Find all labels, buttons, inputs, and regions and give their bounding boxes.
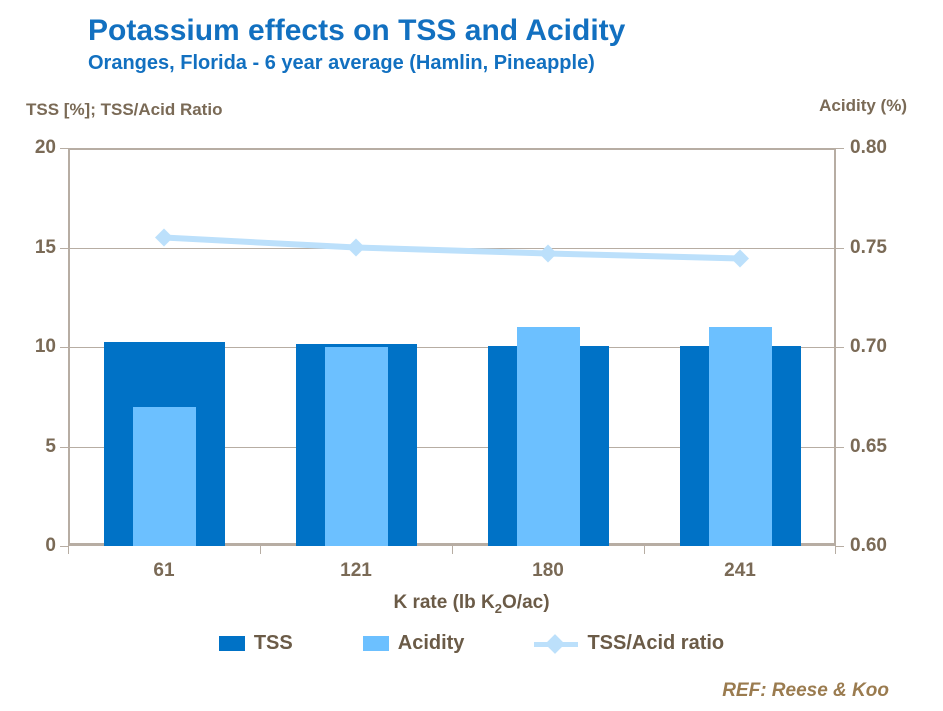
plot-area: [68, 148, 836, 546]
legend-swatch-acidity-icon: [363, 636, 389, 651]
y-tick-right: [836, 148, 844, 149]
y-tick-left: [60, 248, 68, 249]
y-axis-tick-label-left: 0: [12, 535, 56, 557]
reference-note: REF: Reese & Koo: [722, 680, 889, 702]
right-axis-title: Acidity (%): [819, 96, 907, 116]
x-axis-title: K rate (lb K2O/ac): [0, 592, 943, 616]
x-axis-title-pre: K rate (lb K: [393, 592, 494, 613]
y-axis-tick-label-right: 0.80: [850, 137, 912, 159]
legend-item-acidity[interactable]: Acidity: [363, 632, 465, 655]
ratio-marker-diamond-icon: [155, 229, 173, 247]
legend-label-acidity: Acidity: [398, 632, 465, 655]
legend-label-tss: TSS: [254, 632, 293, 655]
x-tick: [835, 546, 836, 554]
x-tick: [68, 546, 69, 554]
y-tick-right: [836, 248, 844, 249]
y-axis-tick-label-left: 10: [12, 336, 56, 358]
ratio-marker-diamond-icon: [731, 249, 749, 267]
legend-item-ratio[interactable]: TSS/Acid ratio: [534, 632, 724, 655]
chart-legend: TSS Acidity TSS/Acid ratio: [0, 632, 943, 655]
line-series-layer: [68, 148, 836, 546]
y-tick-left: [60, 347, 68, 348]
y-axis-tick-label-left: 15: [12, 237, 56, 259]
x-axis-title-post: O/ac): [502, 592, 550, 613]
y-axis-tick-label-right: 0.65: [850, 436, 912, 458]
x-axis-title-subscript: 2: [495, 601, 502, 616]
x-tick: [260, 546, 261, 554]
y-tick-left: [60, 447, 68, 448]
x-tick: [452, 546, 453, 554]
y-tick-left: [60, 546, 68, 547]
chart-subtitle: Oranges, Florida - 6 year average (Hamli…: [88, 52, 595, 75]
legend-label-ratio: TSS/Acid ratio: [587, 632, 724, 655]
ratio-marker-diamond-icon: [539, 244, 557, 262]
y-axis-tick-label-left: 20: [12, 137, 56, 159]
x-axis-tick-label: 121: [340, 560, 372, 582]
x-tick: [644, 546, 645, 554]
legend-swatch-tss-icon: [219, 636, 245, 651]
y-axis-tick-label-left: 5: [12, 436, 56, 458]
y-tick-left: [60, 148, 68, 149]
y-axis-tick-label-right: 0.60: [850, 535, 912, 557]
x-axis-tick-label: 61: [153, 560, 174, 582]
left-axis-title: TSS [%]; TSS/Acid Ratio: [26, 100, 222, 120]
y-axis-tick-label-right: 0.75: [850, 237, 912, 259]
y-tick-right: [836, 447, 844, 448]
chart-canvas: Potassium effects on TSS and Acidity Ora…: [0, 0, 943, 711]
ratio-marker-diamond-icon: [347, 239, 365, 257]
legend-swatch-ratio-line-diamond-icon: [534, 637, 578, 651]
ratio-line: [164, 238, 740, 259]
y-axis-tick-label-right: 0.70: [850, 336, 912, 358]
y-tick-right: [836, 546, 844, 547]
chart-title: Potassium effects on TSS and Acidity: [88, 14, 625, 48]
legend-item-tss[interactable]: TSS: [219, 632, 293, 655]
y-tick-right: [836, 347, 844, 348]
x-axis-tick-label: 180: [532, 560, 564, 582]
x-axis-tick-label: 241: [724, 560, 756, 582]
